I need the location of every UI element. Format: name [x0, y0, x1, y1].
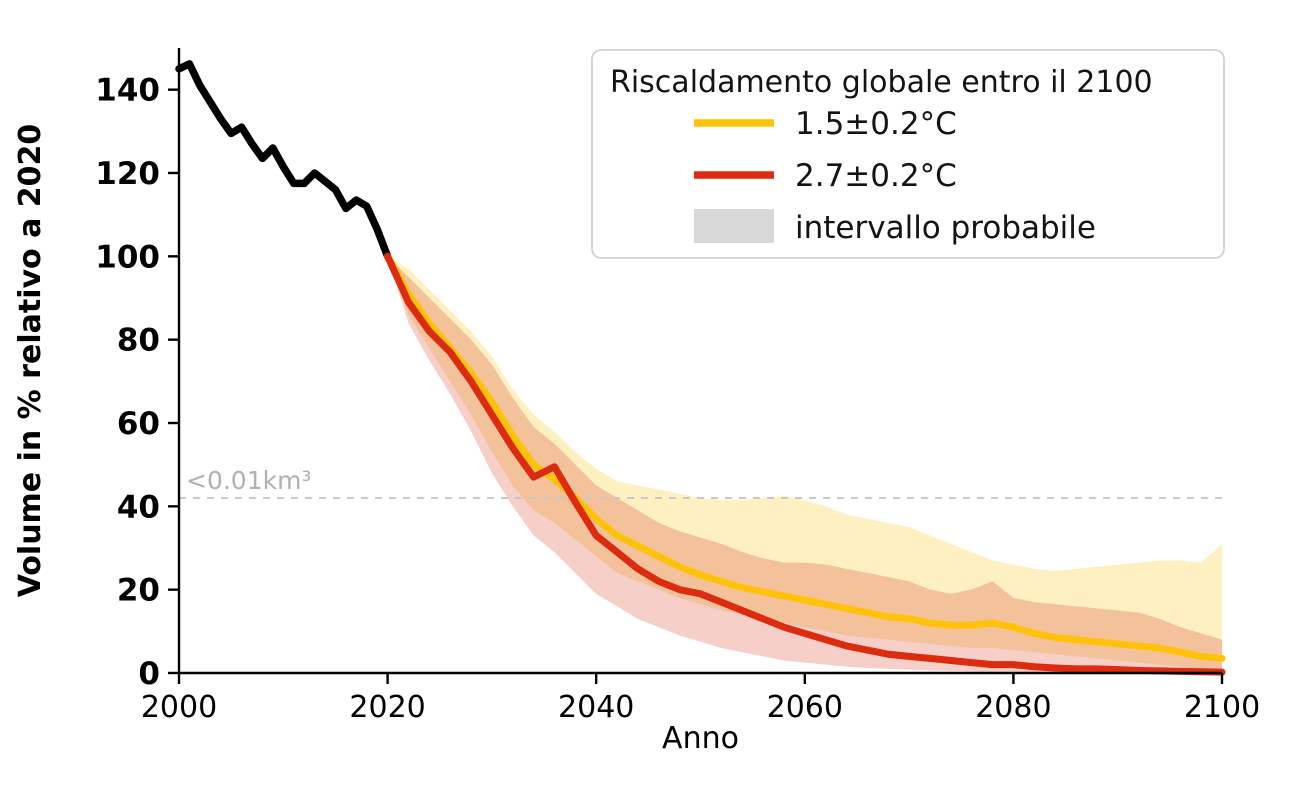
- y-tick-label: 140: [95, 73, 160, 109]
- y-tick-label: 120: [95, 156, 160, 192]
- threshold-annotation: <0.01km³: [186, 466, 311, 495]
- chart-legend[interactable]: Riscaldamento globale entro il 21001.5±0…: [592, 50, 1224, 258]
- legend-entry-3[interactable]: intervallo probabile: [694, 209, 1096, 246]
- y-tick-label: 100: [95, 239, 160, 275]
- x-tick-label: 2060: [767, 690, 843, 725]
- legend-title: Riscaldamento globale entro il 2100: [610, 65, 1153, 100]
- legend-patch-swatch: [694, 209, 774, 243]
- y-tick-label: 20: [117, 573, 160, 609]
- y-tick-label: 0: [138, 656, 160, 692]
- legend-entry-label: intervallo probabile: [795, 210, 1096, 246]
- x-tick-label: 2020: [349, 690, 425, 725]
- y-tick-label: 40: [117, 489, 160, 525]
- y-tick-label: 60: [117, 406, 160, 442]
- x-tick-label: 2080: [975, 690, 1051, 725]
- legend-entry-label: 1.5±0.2°C: [795, 106, 957, 142]
- volume-projection-chart: <0.01km³ 0204060801001201402000202020402…: [0, 0, 1300, 800]
- x-tick-label: 2100: [1184, 690, 1260, 725]
- chart-canvas: <0.01km³ 0204060801001201402000202020402…: [0, 0, 1300, 800]
- y-tick-label: 80: [117, 323, 160, 359]
- x-axis-title: Anno: [662, 721, 739, 756]
- x-tick-label: 2040: [558, 690, 634, 725]
- x-tick-label: 2000: [141, 690, 217, 725]
- legend-entry-label: 2.7±0.2°C: [795, 158, 957, 194]
- y-axis-title: Volume in % relativo a 2020: [13, 124, 48, 598]
